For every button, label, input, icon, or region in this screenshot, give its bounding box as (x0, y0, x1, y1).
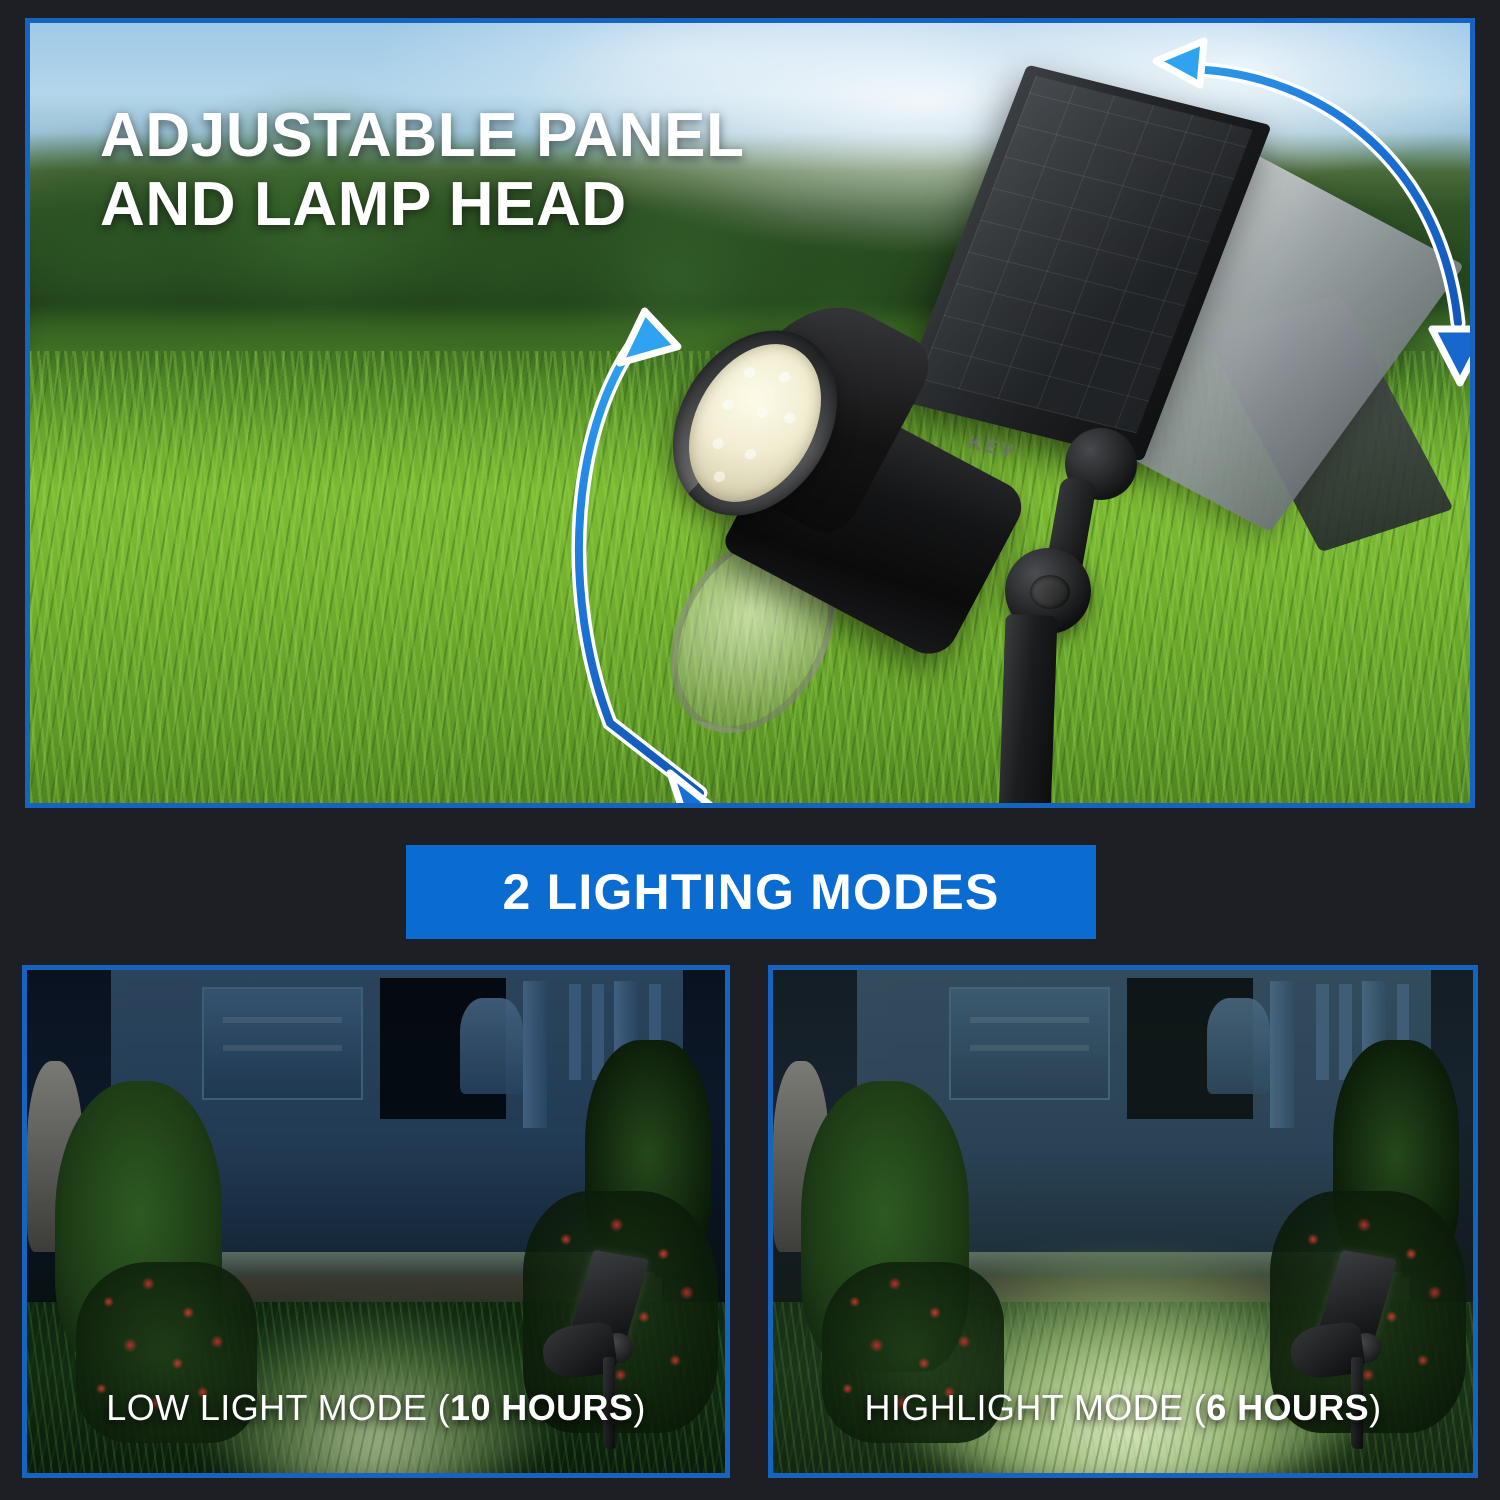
low-light-mode-panel: LOW LIGHT MODE (10 HOURS) (22, 965, 730, 1478)
lighting-modes-banner: 2 LIGHTING MODES (406, 845, 1096, 939)
highlight-mode-caption: HIGHLIGHT MODE (6 HOURS) (773, 1387, 1473, 1429)
headline-line-2: AND LAMP HEAD (100, 170, 860, 239)
highlight-mode-panel: HIGHLIGHT MODE (6 HOURS) (768, 965, 1478, 1478)
infographic-stage: ADJUSTABLE PANEL AND LAMP HEAD KEV (0, 0, 1500, 1500)
caption-runtime: 6 HOURS (1206, 1387, 1369, 1428)
joint-screw (1030, 575, 1070, 609)
lighting-modes-banner-label: 2 LIGHTING MODES (502, 863, 999, 921)
caption-suffix: ) (633, 1387, 645, 1428)
porch-chair (460, 998, 523, 1094)
hero-product-panel: ADJUSTABLE PANEL AND LAMP HEAD KEV (25, 18, 1475, 808)
garage-panel-line (223, 1017, 342, 1022)
porch-column (523, 981, 547, 1127)
caption-prefix: HIGHLIGHT MODE ( (865, 1387, 1207, 1428)
caption-runtime: 10 HOURS (450, 1387, 633, 1428)
ground-stake (998, 614, 1057, 808)
caption-prefix: LOW LIGHT MODE ( (106, 1387, 450, 1428)
headline-line-1: ADJUSTABLE PANEL (100, 101, 745, 170)
caption-suffix: ) (1369, 1387, 1381, 1428)
page-title: ADJUSTABLE PANEL AND LAMP HEAD (100, 101, 860, 240)
garage-panel-line (223, 1045, 342, 1050)
porch-rail (569, 984, 582, 1080)
garage-door (202, 987, 362, 1100)
low-light-mode-caption: LOW LIGHT MODE (10 HOURS) (27, 1387, 725, 1429)
